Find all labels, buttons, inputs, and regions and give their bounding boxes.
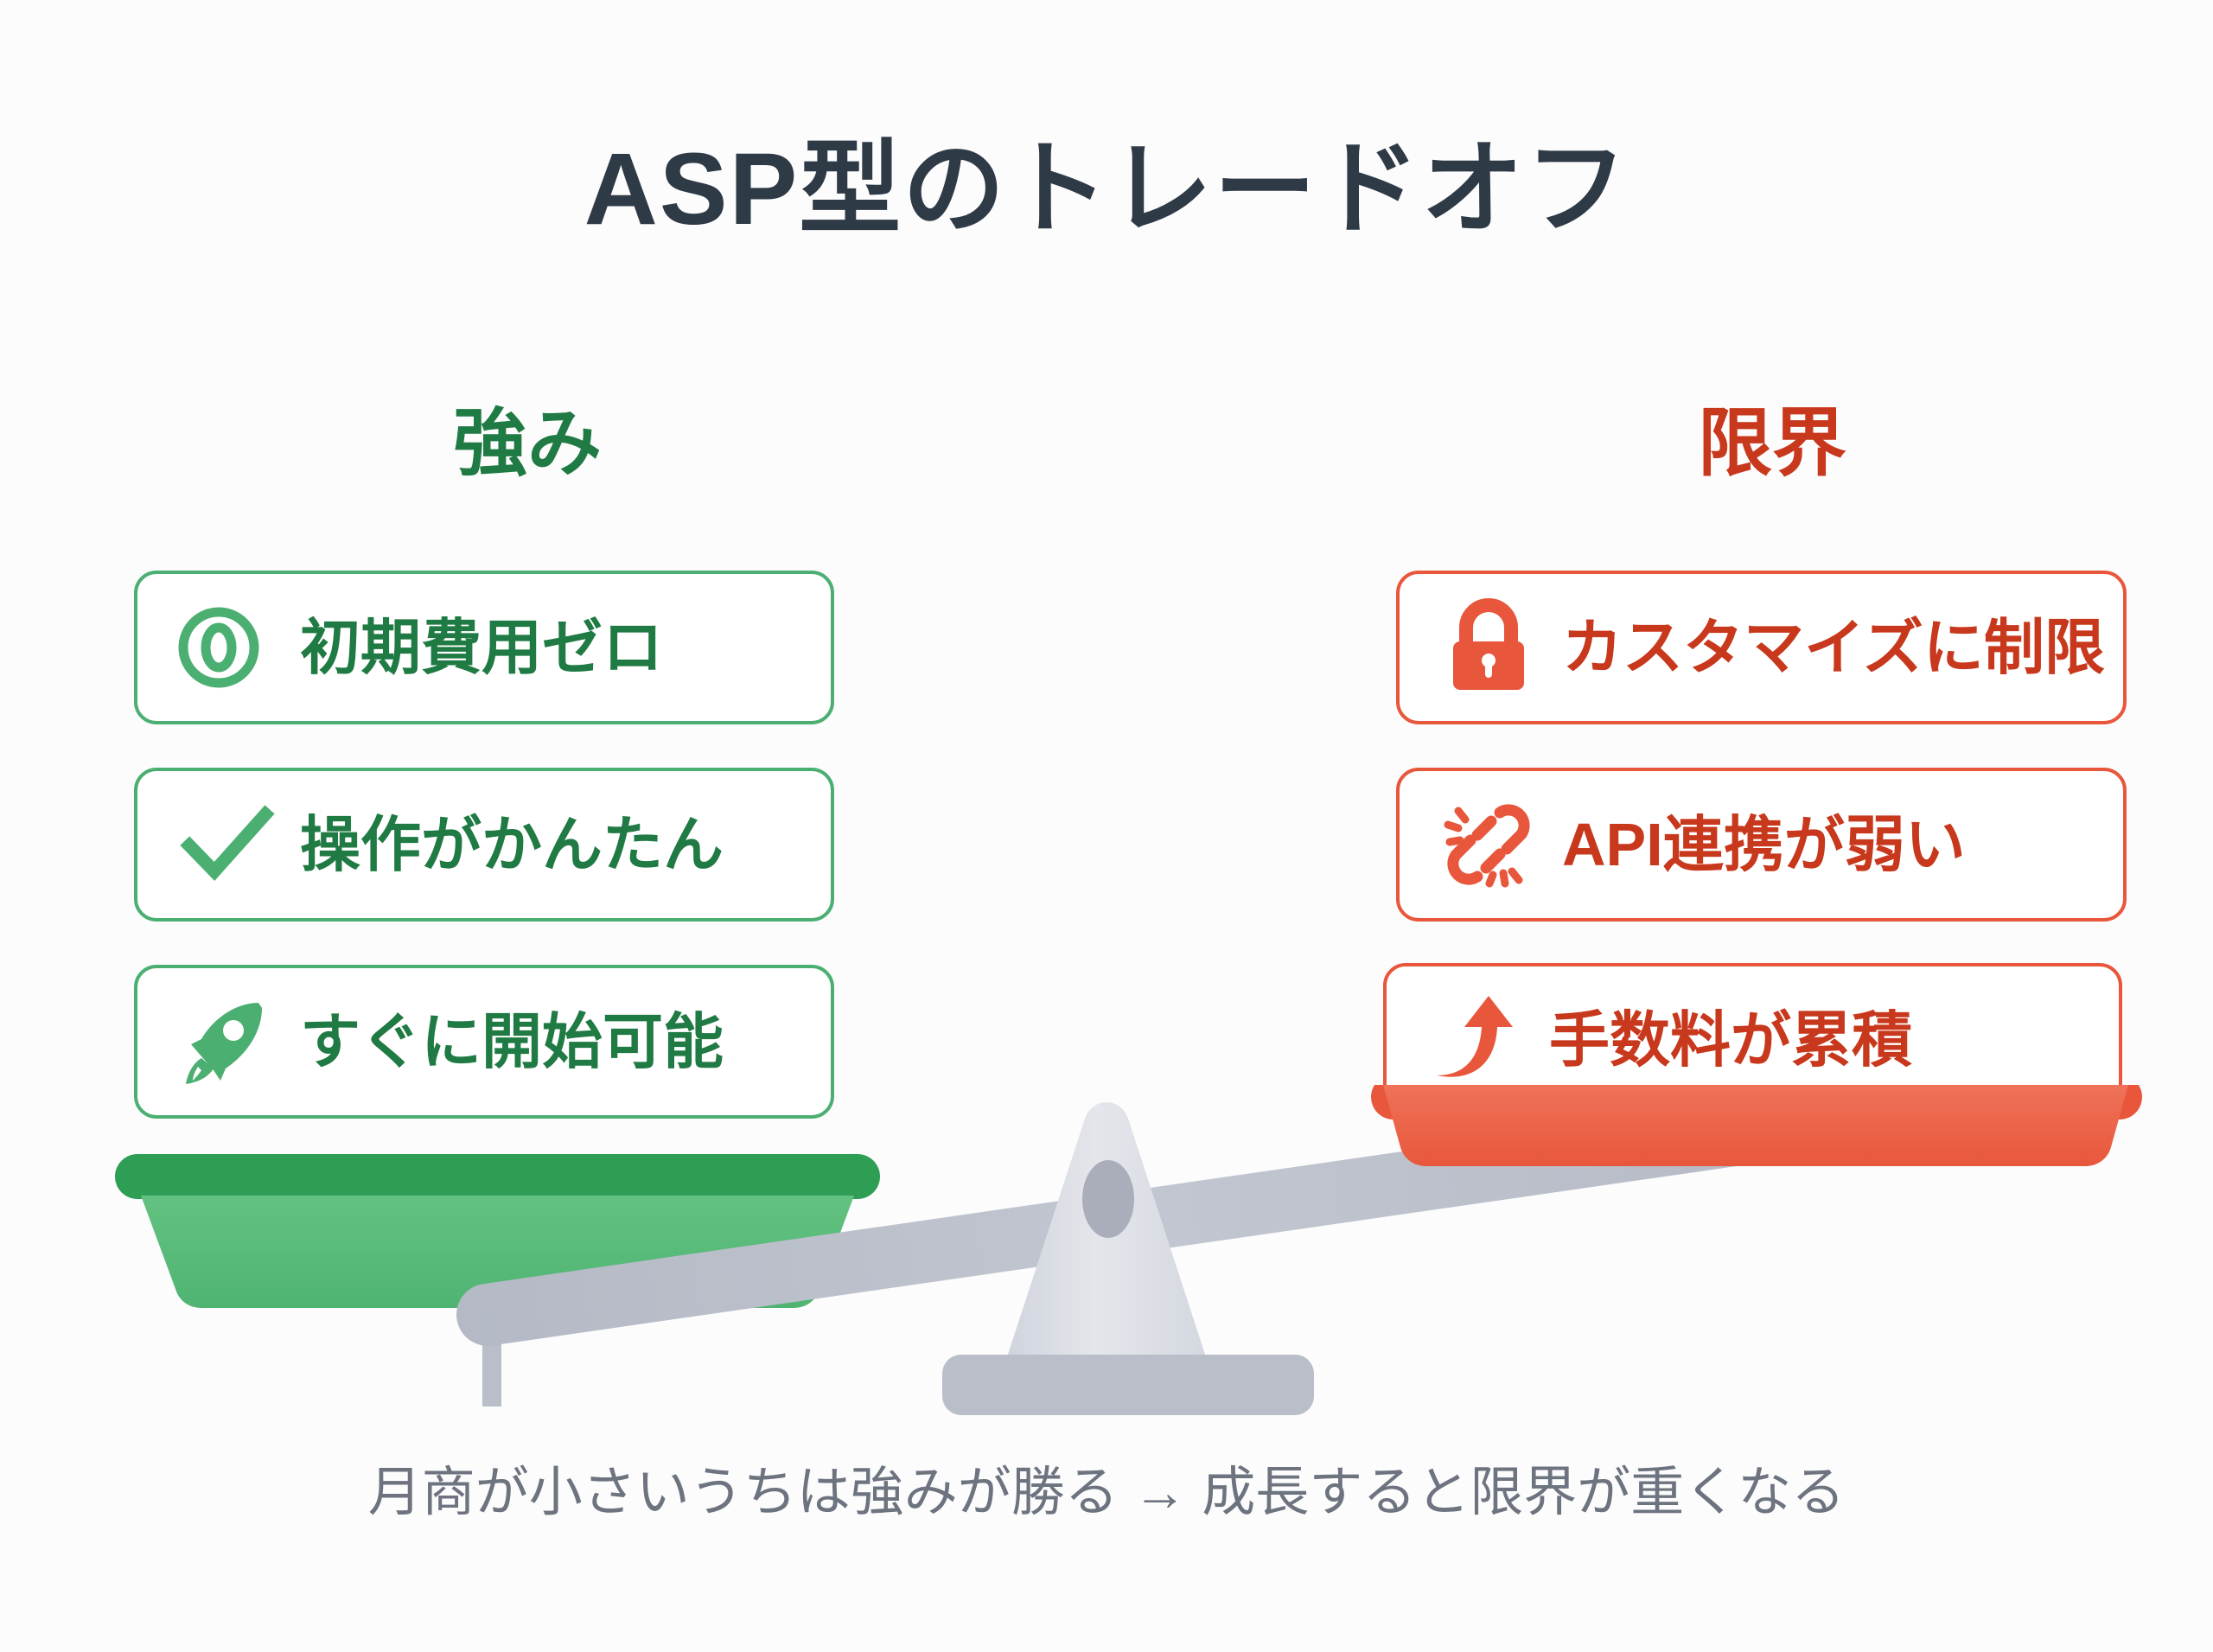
broken-link-icon xyxy=(1438,794,1540,896)
strength-card-label-2: すぐに開始可能 xyxy=(300,1011,724,1072)
zero-coin-icon xyxy=(175,596,277,698)
strength-card-label-0: 初期費用ゼロ xyxy=(300,617,663,678)
limit-card-label-0: カスタマイズに制限 xyxy=(1562,617,2105,678)
strength-card-1[interactable]: 操作がかんたん xyxy=(134,768,834,922)
check-icon xyxy=(175,794,277,896)
rocket-icon xyxy=(175,991,277,1093)
infographic-canvas: ASP型のトレードオフ 強み 限界 初期費用ゼロ 操作がかんたん xyxy=(0,0,2213,1652)
page-title: ASP型のトレードオフ xyxy=(0,134,2213,246)
balance-scale xyxy=(0,1085,2213,1448)
limit-card-label-1: API連携が弱い xyxy=(1562,814,1966,875)
limit-card-label-2: 手数料が累積 xyxy=(1549,1010,1912,1070)
column-heading-strengths: 強み xyxy=(225,406,830,481)
strength-card-label-1: 操作がかんたん xyxy=(300,814,724,875)
summary-caption: 月商が小さいうちは強みが勝る → 成長すると限界が重くなる xyxy=(0,1461,2213,1525)
rising-arrow-icon xyxy=(1425,989,1527,1091)
scale-pivot xyxy=(1082,1160,1134,1238)
scale-base xyxy=(942,1355,1314,1415)
strength-card-0[interactable]: 初期費用ゼロ xyxy=(134,571,834,724)
limit-card-1[interactable]: API連携が弱い xyxy=(1396,768,2127,922)
limit-card-0[interactable]: カスタマイズに制限 xyxy=(1396,571,2127,724)
scale-right-pan xyxy=(1371,1085,2142,1166)
column-heading-limits: 限界 xyxy=(1470,406,2075,481)
lock-icon xyxy=(1438,596,1540,698)
